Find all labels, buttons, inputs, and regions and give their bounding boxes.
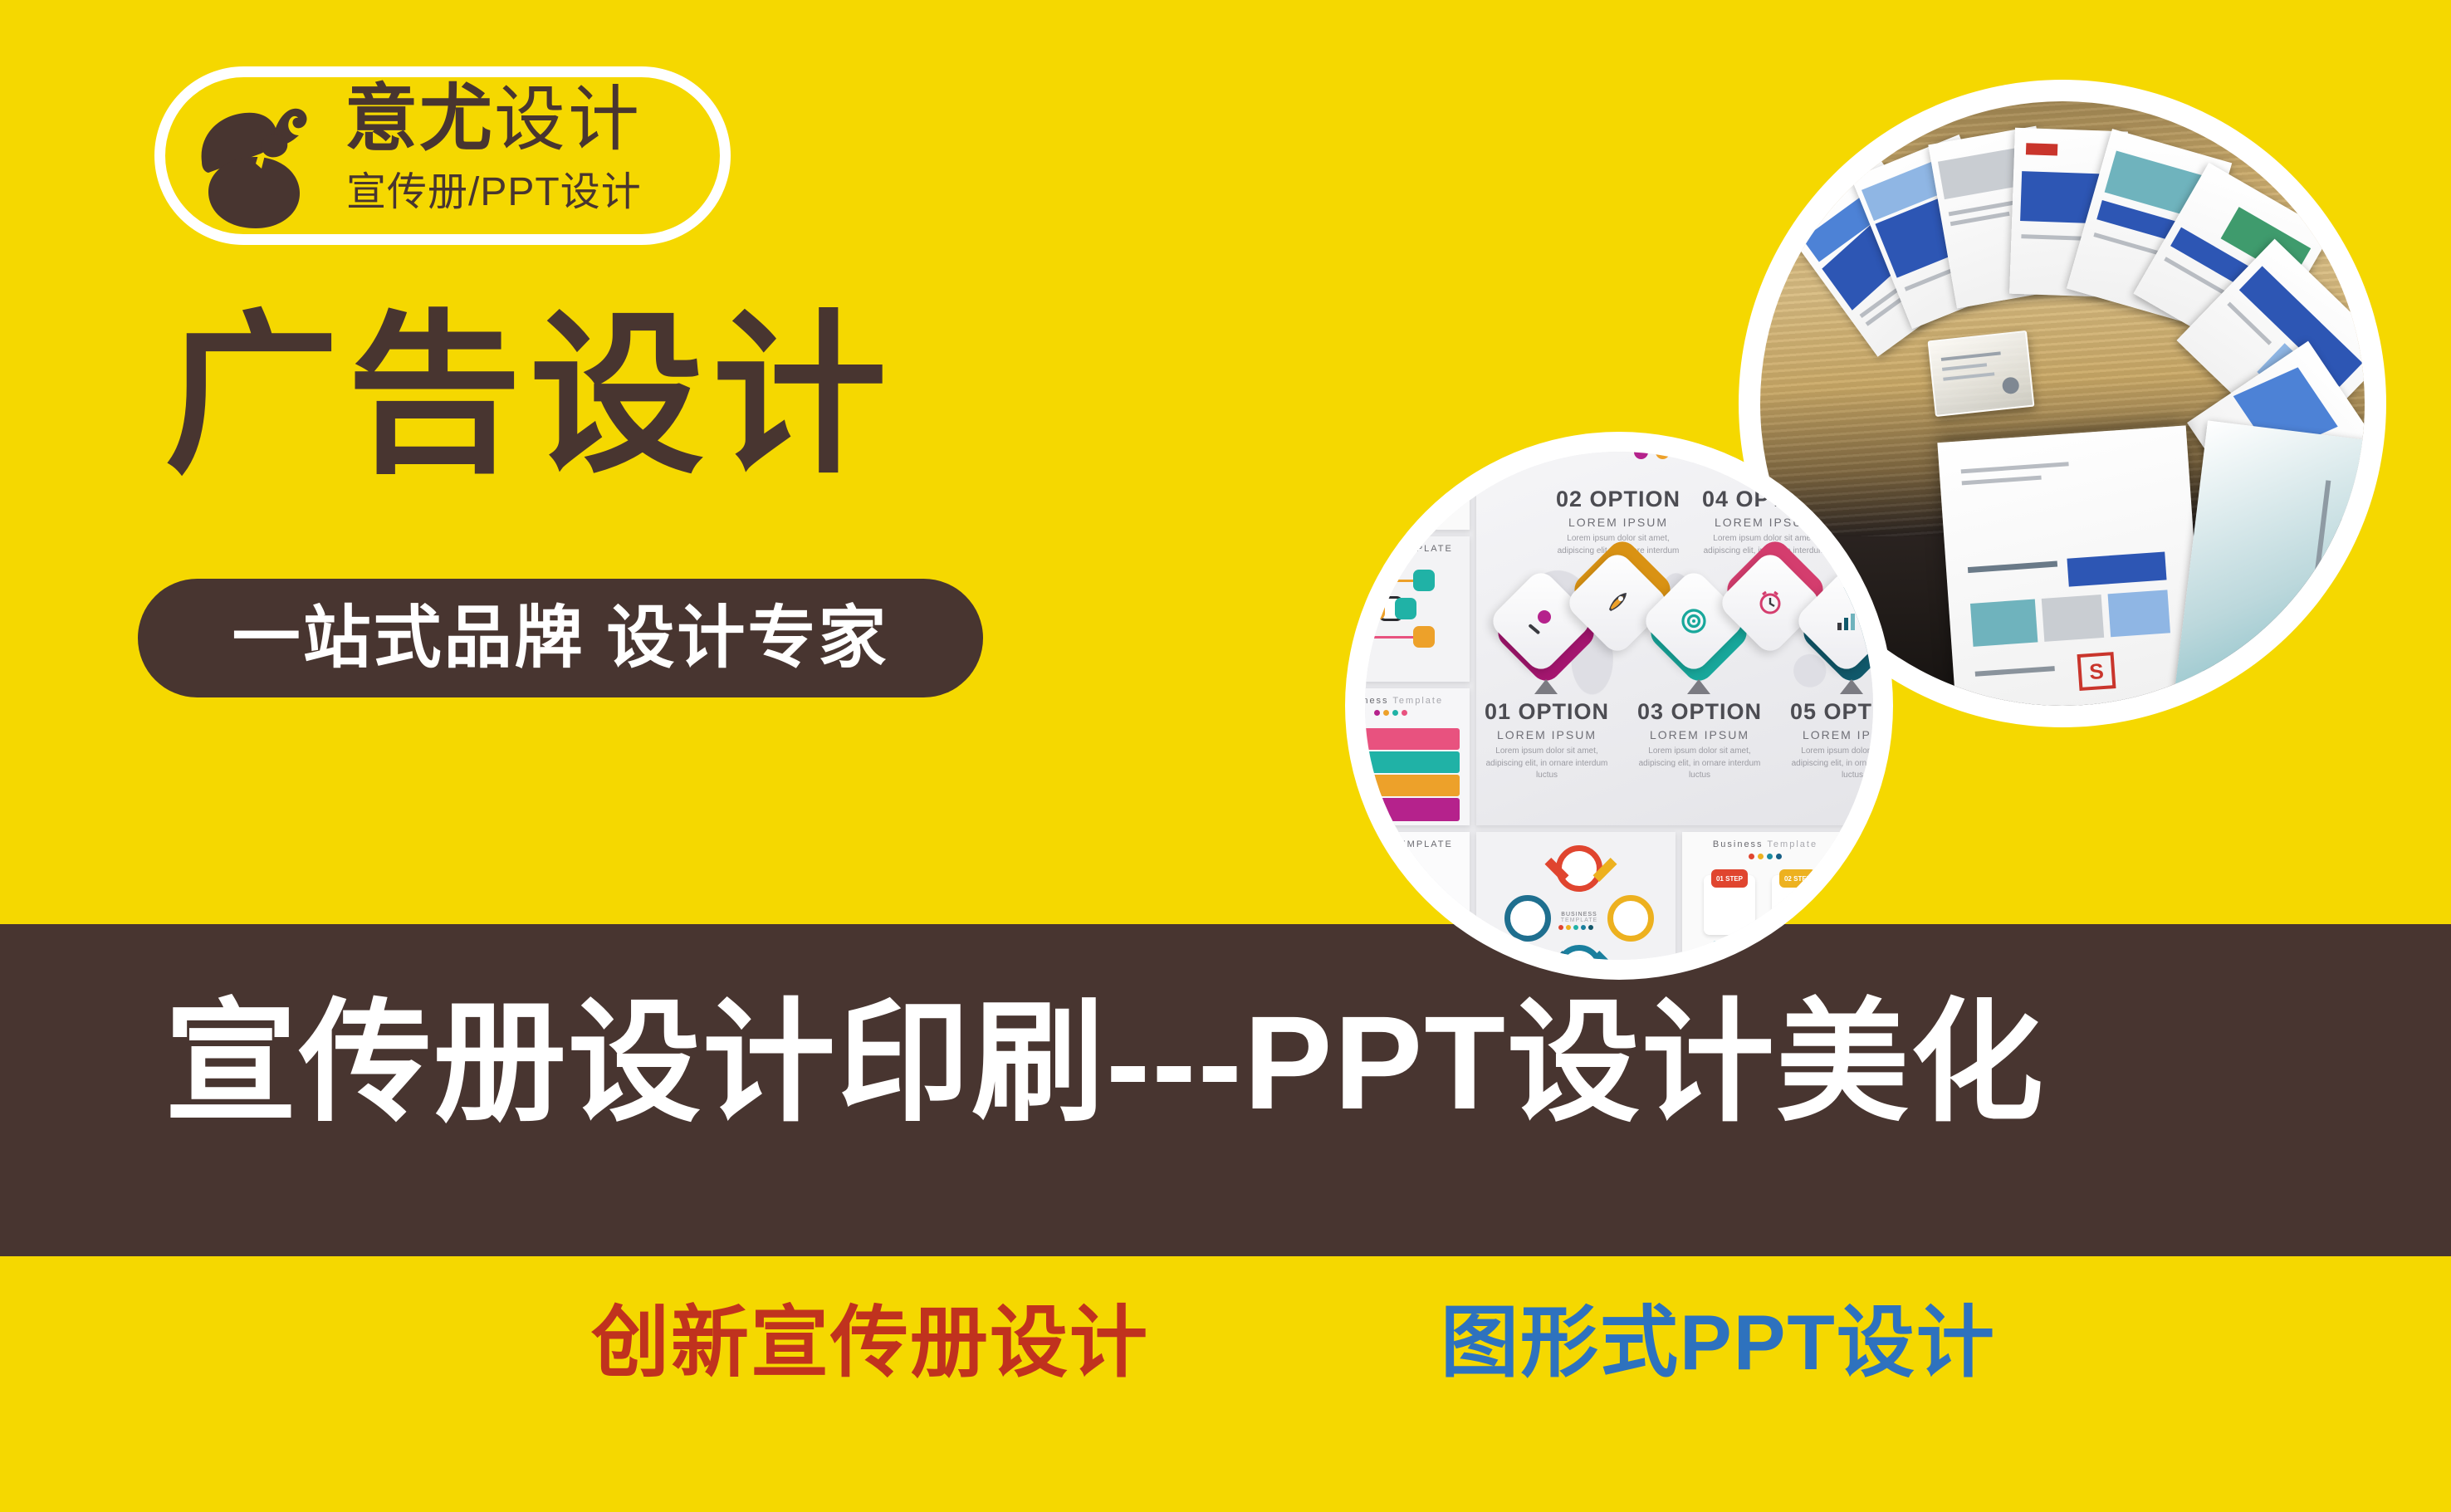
thumbnail-node-title: BUSINESS TEMPLATE [1365,544,1470,554]
alarm-clock-icon [1732,565,1808,641]
step-card-01: 01 STEP [1704,875,1755,935]
logo-text-block: 意尤设计 宣传册/PPT设计 [345,79,718,245]
logo-name-thin: 设计 [494,80,642,159]
magnifier-icon [1503,583,1579,659]
main-slide-business-template: BUSINESS TEMPLATE 02 OPTION LOREM IPSUM … [1476,452,1873,825]
footer-tag-brochure: 创新宣传册设计 [591,1304,1149,1382]
option-label-03: 03 OPTION LOREM IPSUM Lorem ipsum dolor … [1629,699,1770,782]
thumbnail-option-slide: BUSINESS TEMPLATE 04 OPTION [1365,832,1470,960]
brochure-item [2175,420,2365,706]
rocket-icon [1579,565,1656,641]
ppt-showcase-circle: BUSINESS TEMPLATE Business Template [1345,432,1893,980]
thumbnail-steps-title: Business Template [1682,839,1848,849]
ppt-showcase-clip: BUSINESS TEMPLATE Business Template [1365,452,1873,960]
ppt-slide-collage: BUSINESS TEMPLATE Business Template [1365,452,1873,960]
option-label-01: 01 OPTION LOREM IPSUM Lorem ipsum dolor … [1476,699,1617,782]
band-headline: 宣传册设计印刷---PPT设计美化 [164,996,2045,1129]
thumbnail-banner-slide [1365,452,1470,530]
subtitle-pill: 一站式品牌 设计专家 [138,579,983,697]
thumbnail-pyramid-title: Business Template [1365,696,1470,706]
thumbnail-cycle-diagram: BUSINESS TEMPLATE [1476,832,1676,960]
red-seal-stamp: S [2077,652,2116,691]
thumbnail-step-cards: Business Template 01 STEP 02 STEP [1682,832,1848,960]
logo-tagline: 宣传册/PPT设计 [346,173,642,213]
step-card-03: 03 STEP [1704,947,1755,960]
thumbnail-option-label: 04 OPTION [1365,875,1470,885]
page-title: 广告设计 [164,309,895,483]
thumbnail-map-title: Business [1855,839,1873,849]
thumbnail-map-slide: Business 06 [1855,832,1873,960]
thumbnail-pyramid-dots [1365,710,1470,716]
step-card-04: 04 STEP [1772,947,1823,960]
foreground-brochure: S [1937,425,2204,706]
chart-icon [1808,583,1873,659]
promo-banner: 意尤设计 宣传册/PPT设计 广告设计 一站式品牌 设计专家 BUSINESS … [0,0,2451,1512]
business-card-stand [1928,330,2035,417]
logo-name-bold: 意尤 [345,77,494,159]
thumbnail-pyramid-chart: Business Template [1365,688,1470,825]
thumbnail-option-title: BUSINESS TEMPLATE [1365,839,1470,849]
target-icon [1656,583,1732,659]
yiyou-bird-seed-mark-icon [179,86,336,243]
subtitle-text: 一站式品牌 设计专家 [232,604,889,673]
step-card-02: 02 STEP [1772,875,1823,935]
brand-logo[interactable]: 意尤设计 宣传册/PPT设计 [154,66,731,245]
option-label-05: 05 OPTION LOREM IPSUM Lorem ipsum dolor … [1782,699,1873,782]
footer-tag-ppt: 图形式PPT设计 [1441,1304,1996,1382]
pointer-up-03 [1687,679,1710,694]
cycle-center-label: BUSINESS TEMPLATE [1543,912,1616,923]
option-diamond-05 [1805,581,1873,674]
pointer-up-01 [1534,679,1558,694]
slide-title-dots [1476,452,1873,459]
thumbnail-option-dots [1365,854,1470,859]
pointer-up-05 [1840,679,1863,694]
thumbnail-node-diagram: BUSINESS TEMPLATE [1365,536,1470,682]
logo-name: 意尤设计 [345,82,642,155]
